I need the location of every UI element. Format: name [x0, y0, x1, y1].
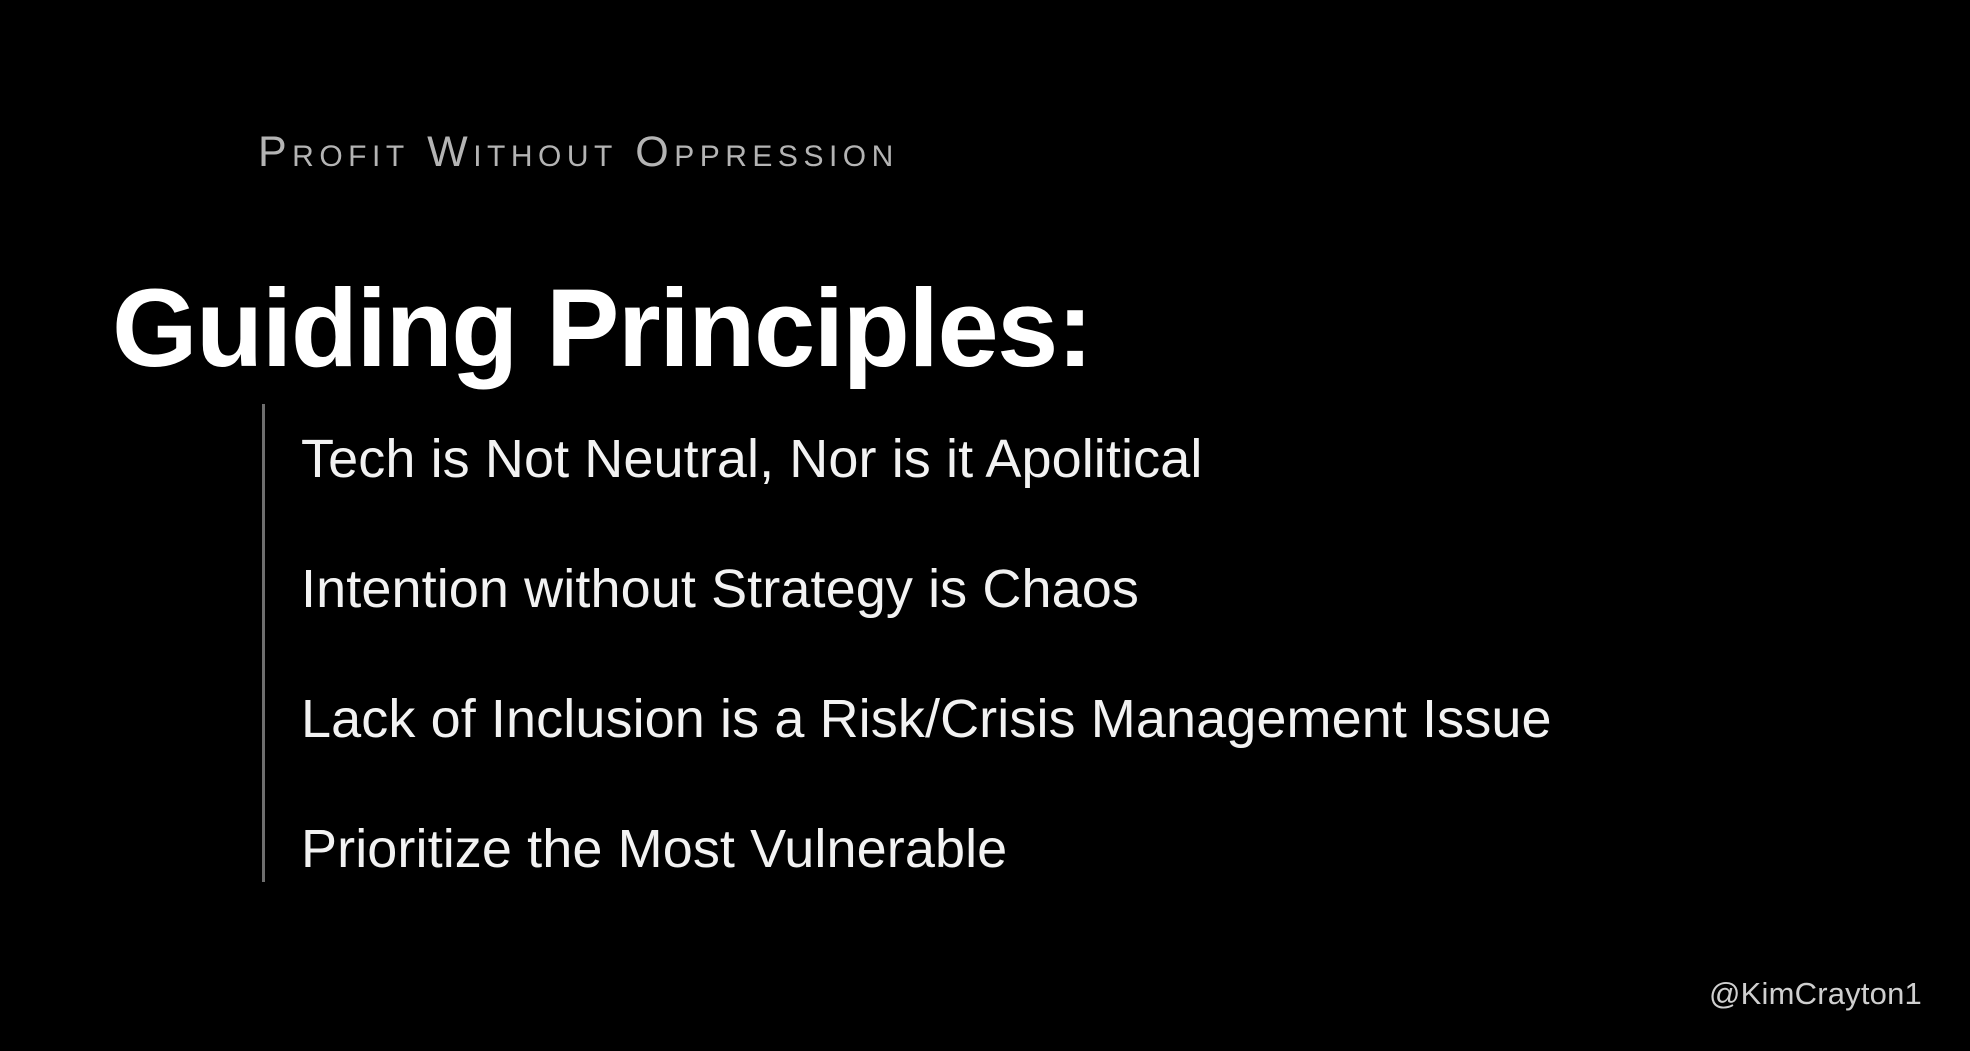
presentation-slide: Profit Without Oppression Guiding Princi…: [0, 0, 1970, 1051]
slide-title: Guiding Principles:: [112, 267, 1092, 390]
list-item: Tech is Not Neutral, Nor is it Apolitica…: [301, 432, 1202, 486]
principles-block: Tech is Not Neutral, Nor is it Apolitica…: [262, 404, 1922, 882]
slide-eyebrow: Profit Without Oppression: [258, 131, 899, 174]
author-handle: @KimCrayton1: [1709, 978, 1922, 1009]
list-item: Prioritize the Most Vulnerable: [301, 822, 1007, 876]
list-item: Intention without Strategy is Chaos: [301, 562, 1139, 616]
list-item: Lack of Inclusion is a Risk/Crisis Manag…: [301, 692, 1552, 746]
principles-list: Tech is Not Neutral, Nor is it Apolitica…: [265, 404, 1922, 882]
